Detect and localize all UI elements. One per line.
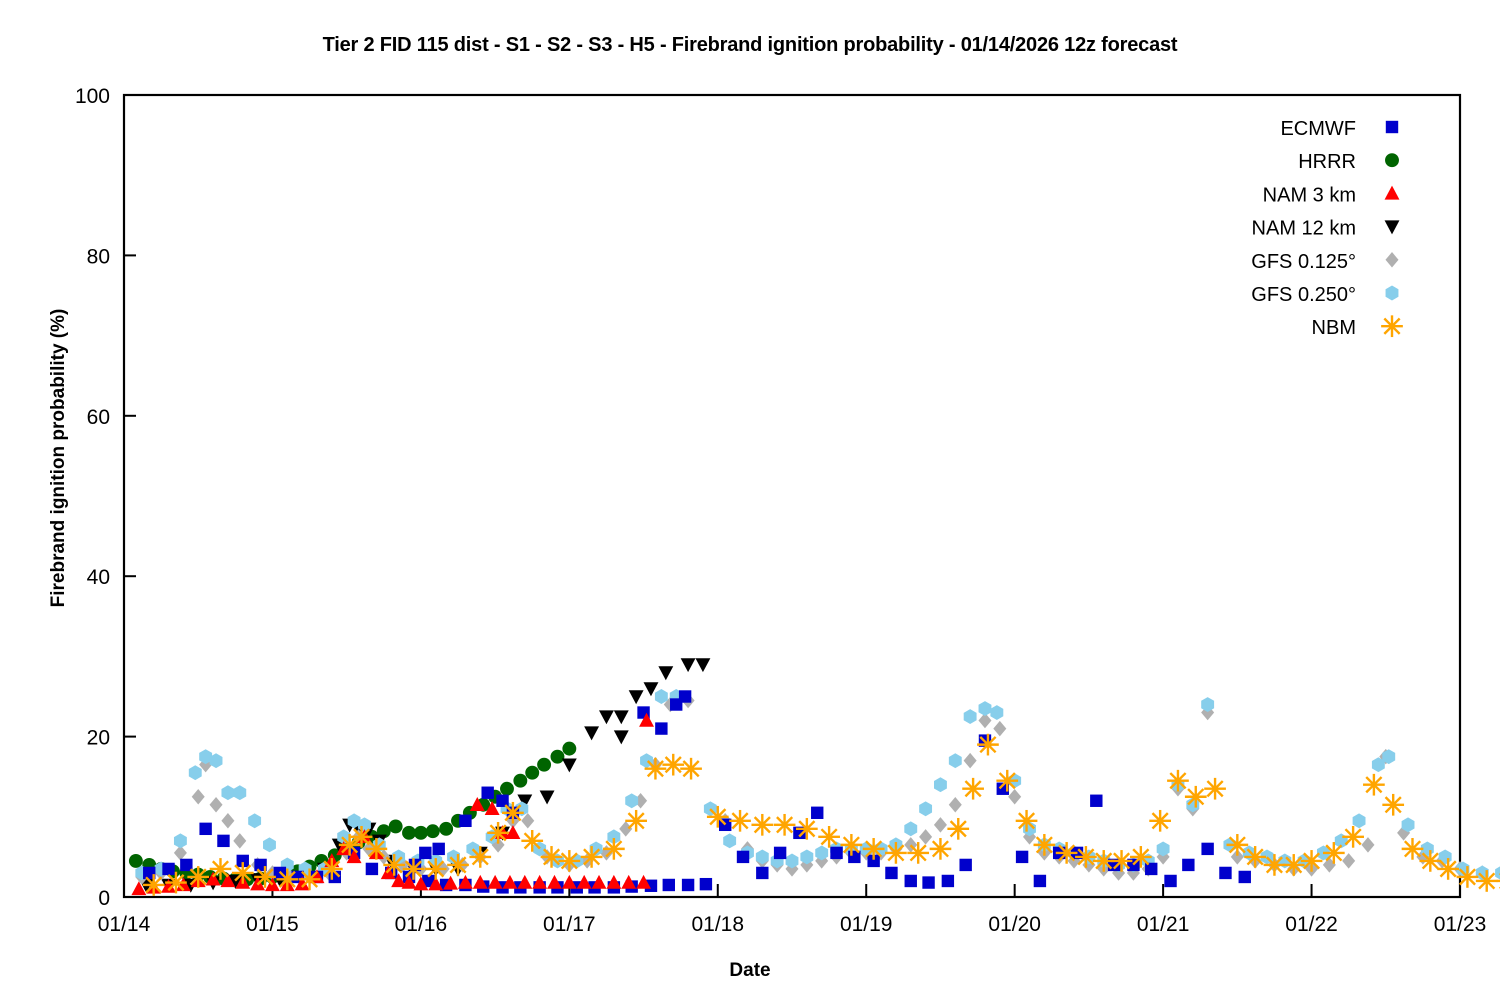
data-point xyxy=(930,838,952,860)
data-point xyxy=(1090,795,1102,807)
data-points xyxy=(129,658,1500,896)
data-point xyxy=(500,782,514,796)
data-point xyxy=(481,787,493,799)
data-point xyxy=(162,863,174,875)
y-tick-label: 0 xyxy=(98,887,110,910)
data-point xyxy=(919,801,932,816)
data-point xyxy=(1382,794,1404,816)
plot-frame xyxy=(124,95,1460,897)
data-point xyxy=(682,879,694,891)
legend-item-ecmwf[interactable]: ECMWF xyxy=(1280,118,1398,140)
legend-item-nam-3-km[interactable]: NAM 3 km xyxy=(1263,184,1400,206)
chart-page: Tier 2 FID 115 dist - S1 - S2 - S3 - H5 … xyxy=(0,0,1500,1000)
data-point xyxy=(1164,875,1176,887)
data-point xyxy=(221,785,234,800)
data-point xyxy=(1323,842,1345,864)
data-point xyxy=(863,838,885,860)
data-point xyxy=(540,791,555,805)
x-tick-label: 01/16 xyxy=(395,913,448,936)
data-point xyxy=(558,850,580,872)
data-point xyxy=(199,823,211,835)
data-point xyxy=(562,742,576,756)
x-tick-label: 01/20 xyxy=(988,913,1041,936)
data-point xyxy=(1457,866,1479,888)
data-point xyxy=(993,721,1006,737)
legend-marker-square-icon xyxy=(1386,121,1398,133)
data-point xyxy=(774,847,786,859)
legend-label: ECMWF xyxy=(1280,118,1356,140)
data-point xyxy=(751,814,773,836)
data-point xyxy=(904,821,917,836)
data-point xyxy=(919,829,932,845)
data-point xyxy=(811,807,823,819)
data-point xyxy=(1264,854,1286,876)
data-point xyxy=(426,824,440,838)
data-point xyxy=(841,834,863,856)
data-point xyxy=(1034,875,1046,887)
data-point xyxy=(723,833,736,848)
y-axis-ticks: 020406080100 xyxy=(75,85,136,910)
legend-item-hrrr[interactable]: HRRR xyxy=(1298,151,1399,173)
data-point xyxy=(830,847,842,859)
data-point xyxy=(1342,826,1364,848)
x-tick-label: 01/14 xyxy=(98,913,151,936)
data-point xyxy=(1219,867,1231,879)
legend-label: GFS 0.250° xyxy=(1251,284,1356,306)
data-point xyxy=(1495,866,1500,881)
data-point xyxy=(707,806,729,828)
data-point xyxy=(1201,843,1213,855)
data-point xyxy=(996,770,1018,792)
data-point xyxy=(680,758,702,780)
data-point xyxy=(233,785,246,800)
data-point xyxy=(1244,846,1266,868)
data-point xyxy=(351,826,373,848)
x-tick-label: 01/21 xyxy=(1137,913,1190,936)
data-point xyxy=(1201,697,1214,712)
data-point xyxy=(629,690,644,704)
data-point xyxy=(658,666,673,680)
data-point xyxy=(1016,851,1028,863)
data-point xyxy=(1226,834,1248,856)
data-point xyxy=(1149,810,1171,832)
legend-marker-circle-icon xyxy=(1385,153,1399,167)
data-point xyxy=(885,842,907,864)
data-point xyxy=(818,826,840,848)
data-point xyxy=(541,846,563,868)
data-point xyxy=(129,854,143,868)
data-point xyxy=(165,872,187,894)
data-point xyxy=(1239,871,1251,883)
data-point xyxy=(403,858,425,880)
data-point xyxy=(233,833,246,849)
data-point xyxy=(299,869,321,891)
data-point xyxy=(700,878,712,890)
data-point xyxy=(737,851,749,863)
legend-item-gfs-0-125[interactable]: GFS 0.125° xyxy=(1251,251,1398,273)
data-point xyxy=(210,797,223,813)
data-point xyxy=(695,658,710,672)
data-point xyxy=(663,879,675,891)
data-point xyxy=(439,822,453,836)
data-point xyxy=(815,845,828,860)
data-point xyxy=(469,846,491,868)
data-point xyxy=(614,710,629,724)
legend-label: NAM 3 km xyxy=(1263,184,1356,206)
data-point xyxy=(366,863,378,875)
data-point xyxy=(217,835,229,847)
data-point xyxy=(1056,842,1078,864)
data-point xyxy=(599,710,614,724)
data-point xyxy=(959,859,971,871)
legend-marker-triangle-down-icon xyxy=(1385,220,1400,234)
data-point xyxy=(962,778,984,800)
x-tick-label: 01/17 xyxy=(543,913,596,936)
legend-item-gfs-0-250[interactable]: GFS 0.250° xyxy=(1251,284,1398,306)
data-point xyxy=(1016,810,1038,832)
legend-marker-diamond-icon xyxy=(1385,252,1398,267)
data-point xyxy=(1353,813,1366,828)
legend-item-nbm[interactable]: NBM xyxy=(1312,315,1403,339)
data-point xyxy=(729,810,751,832)
y-tick-label: 40 xyxy=(87,566,110,589)
legend-marker-asterisk-icon xyxy=(1381,315,1403,337)
data-point xyxy=(625,793,638,808)
data-point xyxy=(681,658,696,672)
data-point xyxy=(210,858,232,880)
data-point xyxy=(1157,841,1170,856)
scatter-plot: 020406080100 01/1401/1501/1601/1701/1801… xyxy=(0,0,1500,1000)
data-point xyxy=(143,874,165,896)
y-tick-label: 100 xyxy=(75,85,110,108)
data-point xyxy=(1342,853,1355,869)
data-point xyxy=(655,689,668,704)
data-point xyxy=(1363,774,1385,796)
data-point xyxy=(942,875,954,887)
legend-label: NAM 12 km xyxy=(1252,218,1356,240)
data-point xyxy=(1034,834,1056,856)
data-point xyxy=(1185,786,1207,808)
data-point xyxy=(389,819,403,833)
data-point xyxy=(1075,846,1097,868)
data-point xyxy=(907,842,929,864)
legend-label: NBM xyxy=(1312,317,1356,339)
data-point xyxy=(977,734,999,756)
data-point xyxy=(366,838,388,860)
data-point xyxy=(425,858,447,880)
data-point xyxy=(1111,850,1133,872)
y-tick-label: 60 xyxy=(87,406,110,429)
data-point xyxy=(192,789,205,805)
data-point xyxy=(581,846,603,868)
data-point xyxy=(1437,858,1459,880)
data-point xyxy=(1130,846,1152,868)
data-point xyxy=(551,750,565,764)
data-point xyxy=(419,847,431,859)
legend-label: GFS 0.125° xyxy=(1251,251,1356,273)
data-point xyxy=(263,837,276,852)
data-point xyxy=(525,766,539,780)
data-point xyxy=(679,690,691,702)
data-point xyxy=(1204,778,1226,800)
data-point xyxy=(487,822,509,844)
data-point xyxy=(537,758,551,772)
data-point xyxy=(414,826,428,840)
data-point xyxy=(1402,838,1424,860)
data-point xyxy=(1167,770,1189,792)
data-point xyxy=(614,730,629,744)
data-point xyxy=(402,826,416,840)
x-tick-label: 01/23 xyxy=(1434,913,1487,936)
data-point xyxy=(1008,789,1021,805)
data-point xyxy=(645,758,667,780)
data-point xyxy=(619,821,632,837)
x-tick-label: 01/15 xyxy=(246,913,299,936)
data-point xyxy=(964,753,977,769)
data-point xyxy=(1476,870,1498,892)
data-point xyxy=(934,817,947,833)
legend[interactable]: ECMWFHRRRNAM 3 kmNAM 12 kmGFS 0.125°GFS … xyxy=(1251,118,1403,339)
data-point xyxy=(796,818,818,840)
data-point xyxy=(922,876,934,888)
legend-marker-hexagon-icon xyxy=(1386,286,1399,301)
data-point xyxy=(979,701,992,716)
data-point xyxy=(1361,837,1374,853)
data-point xyxy=(502,802,524,824)
data-point xyxy=(433,843,445,855)
data-point xyxy=(800,849,813,864)
data-point xyxy=(232,862,254,884)
data-point xyxy=(321,858,343,880)
x-axis-ticks: 01/1401/1501/1601/1701/1801/1901/2001/21… xyxy=(98,884,1487,936)
y-tick-label: 80 xyxy=(87,245,110,268)
data-point xyxy=(1283,854,1305,876)
data-point xyxy=(655,722,667,734)
data-point xyxy=(603,838,625,860)
data-point xyxy=(625,810,647,832)
legend-marker-triangle-up-icon xyxy=(1385,186,1400,200)
legend-label: HRRR xyxy=(1298,151,1356,173)
legend-item-nam-12-km[interactable]: NAM 12 km xyxy=(1252,218,1400,240)
data-point xyxy=(990,705,1003,720)
data-point xyxy=(584,726,599,740)
data-point xyxy=(786,853,799,868)
data-point xyxy=(774,814,796,836)
data-point xyxy=(248,813,261,828)
data-point xyxy=(521,830,543,852)
data-point xyxy=(934,777,947,792)
data-point xyxy=(459,815,471,827)
data-point xyxy=(254,866,276,888)
x-tick-label: 01/18 xyxy=(691,913,744,936)
data-point xyxy=(662,754,684,776)
data-point xyxy=(513,774,527,788)
data-point xyxy=(1182,859,1194,871)
data-point xyxy=(447,854,469,876)
data-point xyxy=(189,765,202,780)
y-tick-label: 20 xyxy=(87,727,110,750)
data-point xyxy=(905,875,917,887)
data-point xyxy=(949,797,962,813)
data-point xyxy=(947,818,969,840)
data-point xyxy=(1301,850,1323,872)
data-point xyxy=(562,758,577,772)
data-point xyxy=(756,867,768,879)
data-point xyxy=(964,709,977,724)
data-point xyxy=(949,753,962,768)
data-point xyxy=(187,866,209,888)
data-point xyxy=(174,833,187,848)
data-point xyxy=(383,854,405,876)
x-tick-label: 01/22 xyxy=(1285,913,1338,936)
data-point xyxy=(885,867,897,879)
data-point xyxy=(221,813,234,829)
data-point xyxy=(276,869,298,891)
x-tick-label: 01/19 xyxy=(840,913,893,936)
